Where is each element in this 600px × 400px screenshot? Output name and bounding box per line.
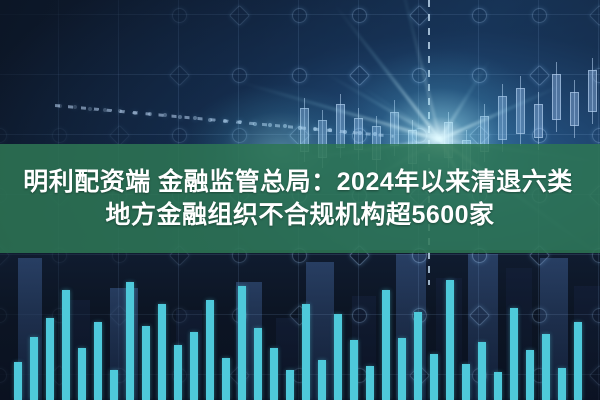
volume-bar (222, 358, 230, 400)
volume-bar (462, 364, 470, 400)
volume-bar (254, 328, 262, 400)
volume-bar (478, 342, 486, 400)
volume-bar (158, 304, 166, 400)
volume-bar (430, 354, 438, 400)
volume-bar (270, 348, 278, 400)
volume-bar (350, 340, 358, 400)
headline-line-2: 地方金融组织不合规机构超5600家 (105, 200, 494, 231)
volume-bar (286, 370, 294, 400)
volume-bar (142, 326, 150, 400)
volume-bar (126, 282, 134, 400)
volume-bar (110, 370, 118, 400)
headline-line-1: 明利配资端 金融监管总局：2024年以来清退六类 (23, 167, 577, 198)
volume-bar (14, 362, 22, 400)
volume-bar (446, 280, 454, 400)
volume-bar (318, 360, 326, 400)
volume-bar (302, 304, 310, 400)
volume-bar (334, 314, 342, 400)
volume-bar (78, 348, 86, 400)
volume-bar (190, 332, 198, 400)
volume-bar (542, 334, 550, 400)
volume-bar (398, 338, 406, 400)
volume-bar (510, 308, 518, 400)
volume-bar (366, 366, 374, 400)
volume-bar (62, 290, 70, 400)
volume-bar (414, 312, 422, 400)
volume-bar (206, 300, 214, 400)
volume-bar (382, 290, 390, 400)
volume-bar (558, 368, 566, 400)
volume-bar (94, 322, 102, 400)
volume-bar (526, 350, 534, 400)
volume-bar (238, 286, 246, 400)
volume-bar (174, 345, 182, 400)
volume-bar (30, 337, 38, 400)
headline-banner: 明利配资端 金融监管总局：2024年以来清退六类 地方金融组织不合规机构超560… (0, 144, 600, 253)
screenshot-root: 明利配资端 金融监管总局：2024年以来清退六类 地方金融组织不合规机构超560… (0, 0, 600, 400)
volume-bar (494, 372, 502, 400)
volume-bar (46, 318, 54, 400)
volume-bar (574, 322, 582, 400)
